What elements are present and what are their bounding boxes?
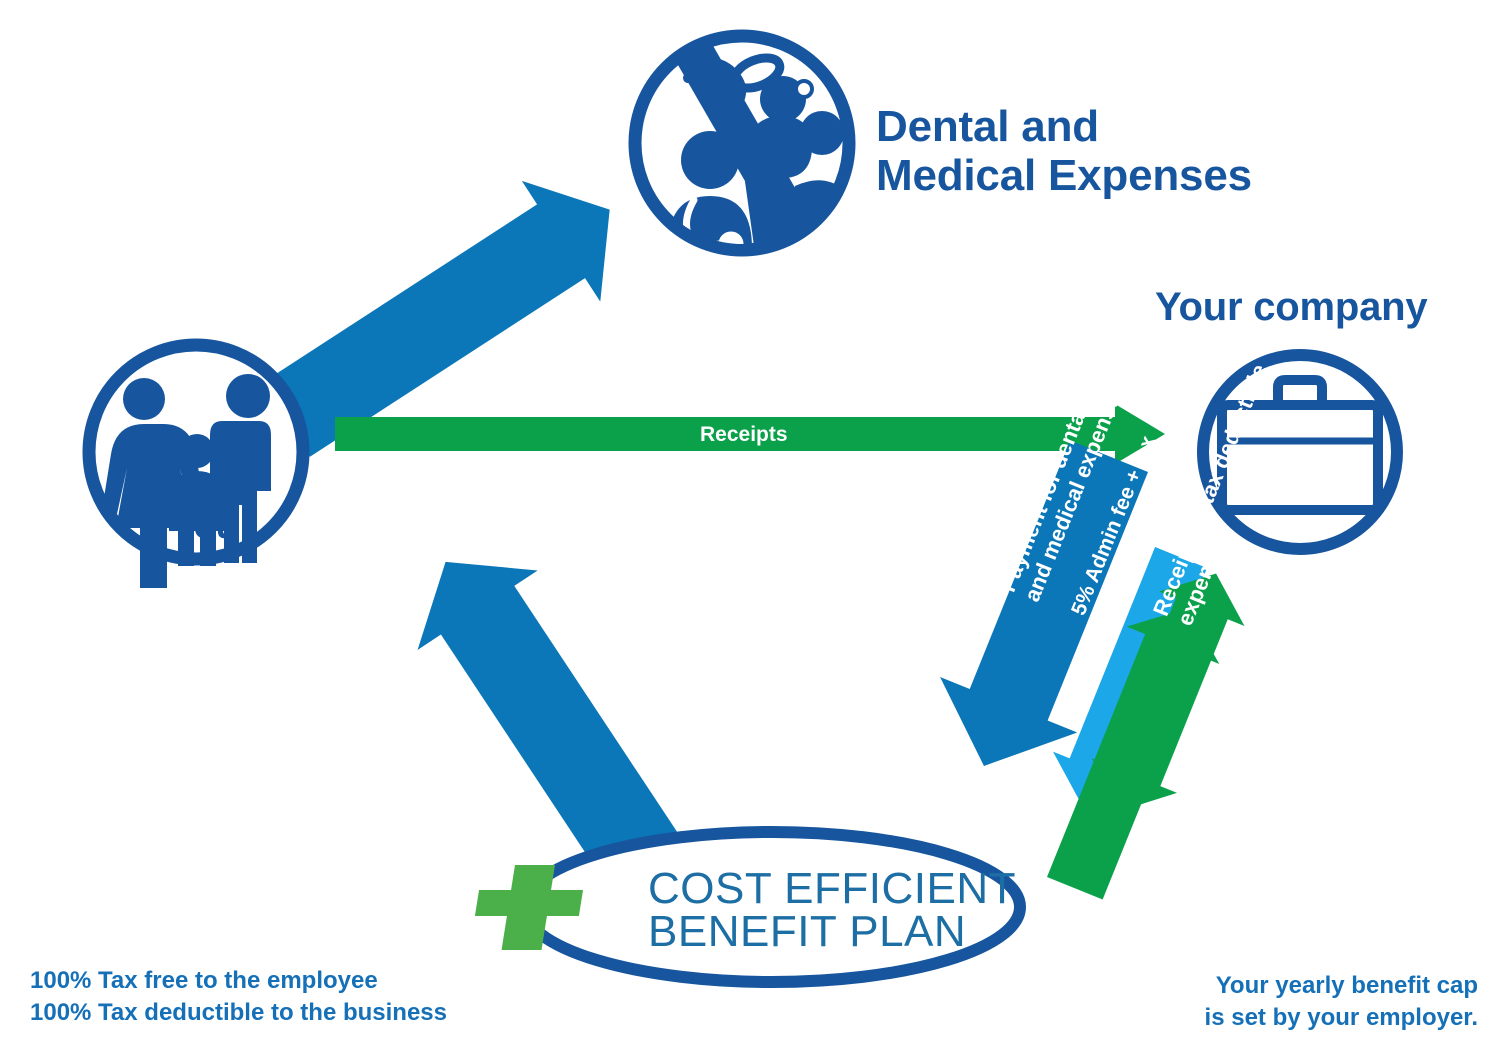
page-title-your-company: Your company: [1155, 285, 1427, 330]
page-title-dental-and-medical-expenses: Dental and Medical Expenses: [876, 102, 1252, 201]
node-your-company[interactable]: [1203, 355, 1397, 549]
footnote-tax-status: 100% Tax free to the employee 100% Tax d…: [30, 965, 447, 1030]
logo-text-cost-efficient-benefit-plan: COST EFFICIENT BENEFIT PLAN: [648, 868, 1016, 953]
footnote-benefit-cap: Your yearly benefit cap is set by your e…: [1205, 970, 1478, 1035]
node-label-you: You: [150, 505, 260, 547]
arrow-receipts[interactable]: [335, 404, 1165, 464]
node-you[interactable]: [89, 345, 303, 588]
diagram-canvas: Dental and Medical Expenses Your company…: [0, 0, 1500, 1055]
node-dental-and-medical-expenses[interactable]: [635, 18, 849, 288]
